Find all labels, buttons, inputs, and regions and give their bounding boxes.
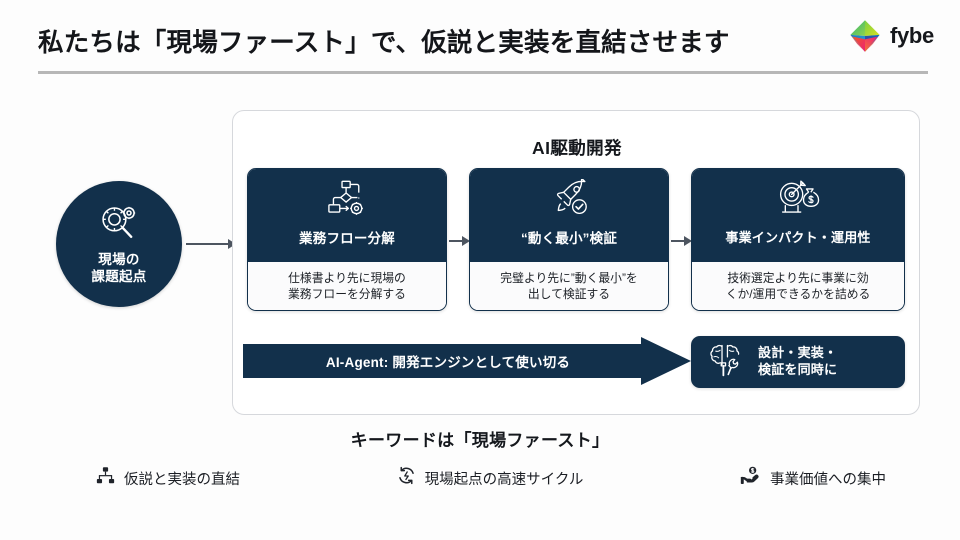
- step-3-title: 事業インパクト・運用性: [725, 227, 870, 246]
- step-2-body-line1: 完璧より先に”動く最小”を: [500, 271, 637, 287]
- footer-item-2-label: 現場起点の高速サイクル: [425, 468, 584, 489]
- flowchart-gear-icon: [326, 179, 368, 222]
- slide-canvas: 私たちは「現場ファースト」で、仮説と実装を直結させます: [0, 0, 960, 540]
- origin-node: 現場の 課題起点: [56, 181, 182, 307]
- step-1-head: 業務フロー分解: [248, 169, 446, 262]
- step-1-body-line1: 仕様書より先に現場の: [288, 271, 406, 287]
- panel-title: AI駆動開発: [233, 135, 921, 160]
- step-3-body-line2: くか/運用できるかを詰める: [726, 287, 871, 303]
- simultaneity-line2: 検証を同時に: [758, 362, 837, 379]
- step-card-2[interactable]: “動く最小”検証 完璧より先に”動く最小”を 出して検証する: [469, 168, 669, 311]
- agent-banner-label: AI-Agent: 開発エンジンとして使い切る: [326, 351, 570, 371]
- agent-banner-arrowhead: [641, 337, 691, 385]
- step-card-1[interactable]: 業務フロー分解 仕様書より先に現場の 業務フローを分解する: [247, 168, 447, 311]
- step-1-body: 仕様書より先に現場の 業務フローを分解する: [248, 262, 446, 311]
- keyword-caption: キーワードは「現場ファースト」: [0, 426, 960, 451]
- connector-step2-to-step3: [671, 235, 693, 246]
- step-2-body: 完璧より先に”動く最小”を 出して検証する: [470, 262, 668, 311]
- cycle-arrows-icon: [397, 466, 416, 490]
- step-2-title: “動く最小”検証: [521, 227, 617, 247]
- brand-lockup: fybe: [847, 18, 934, 54]
- step-1-body-line2: 業務フローを分解する: [288, 287, 406, 303]
- simultaneity-text: 設計・実装・ 検証を同時に: [758, 345, 837, 379]
- origin-label-line1: 現場の: [98, 251, 139, 268]
- hand-holding-dollar-icon: [740, 466, 761, 490]
- magnifier-gears-icon: [97, 203, 141, 248]
- page-title: 私たちは「現場ファースト」で、仮説と実装を直結させます: [38, 22, 730, 59]
- step-2-head: “動く最小”検証: [470, 169, 668, 262]
- origin-label-line2: 課題起点: [91, 268, 146, 285]
- footer-item-2: 現場起点の高速サイクル: [397, 466, 584, 490]
- step-1-title: 業務フロー分解: [299, 227, 395, 247]
- fybe-octahedron-logo-icon: [847, 18, 883, 54]
- connector-origin-to-panel: [186, 238, 236, 249]
- step-3-body: 技術選定より先に事業に効 くか/運用できるかを詰める: [692, 262, 904, 311]
- footer-item-list: 仮説と実装の直結 現場起点の高速サイクル: [96, 466, 886, 490]
- sitemap-icon: [96, 466, 115, 490]
- slide-header: 私たちは「現場ファースト」で、仮説と実装を直結させます: [0, 0, 960, 80]
- footer-item-3-label: 事業価値への集中: [770, 468, 886, 489]
- brain-wrench-icon: [707, 341, 747, 384]
- footer-item-3: 事業価値への集中: [740, 466, 886, 490]
- title-divider: [38, 71, 928, 74]
- step-2-body-line2: 出して検証する: [528, 287, 610, 303]
- rocket-check-icon: [547, 179, 591, 222]
- agent-banner-arrow: AI-Agent: 開発エンジンとして使い切る: [243, 337, 691, 385]
- simultaneity-box: 設計・実装・ 検証を同時に: [691, 336, 905, 388]
- connector-step1-to-step2: [449, 235, 471, 246]
- step-3-head: 事業インパクト・運用性: [692, 169, 904, 262]
- step-card-3[interactable]: 事業インパクト・運用性 技術選定より先に事業に効 くか/運用できるかを詰める: [691, 168, 905, 311]
- target-moneybag-icon: [775, 179, 821, 222]
- agent-banner-body: AI-Agent: 開発エンジンとして使い切る: [243, 344, 641, 378]
- brand-name: fybe: [890, 23, 934, 49]
- step-3-body-line1: 技術選定より先に事業に効: [727, 271, 868, 287]
- footer-item-1-label: 仮説と実装の直結: [124, 468, 240, 489]
- footer-item-1: 仮説と実装の直結: [96, 466, 240, 490]
- simultaneity-line1: 設計・実装・: [758, 345, 837, 362]
